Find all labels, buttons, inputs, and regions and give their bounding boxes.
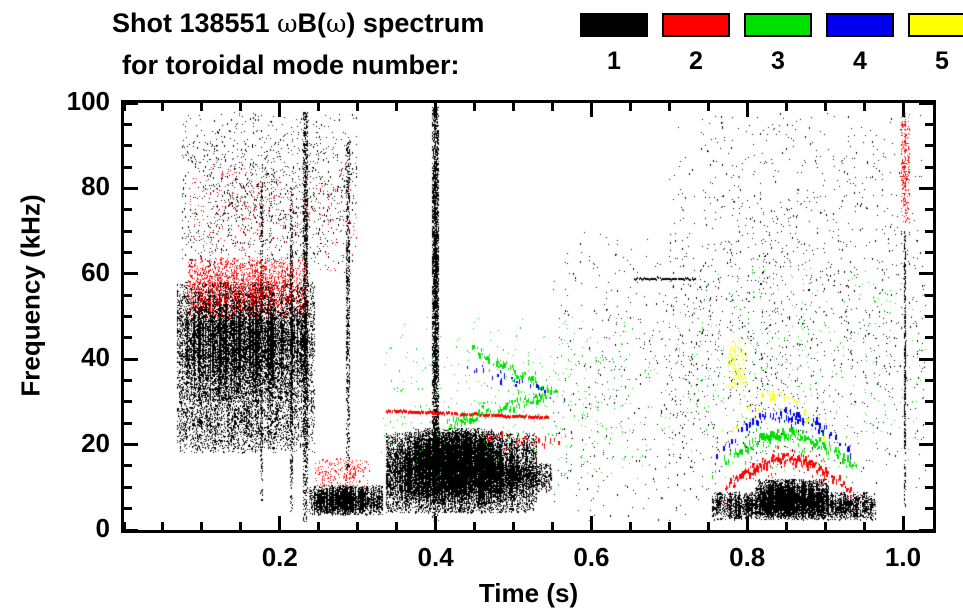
x-axis-title: Time (s) — [121, 578, 936, 609]
title-prefix: Shot 138551 — [112, 8, 277, 38]
x-minor-tick — [395, 522, 398, 530]
y-major-tick — [124, 187, 138, 190]
legend-label-3: 3 — [744, 47, 812, 76]
x-tick-label-0.6: 0.6 — [573, 542, 609, 573]
figure-title-line-1: Shot 138551 ωB(ω) spectrum — [112, 8, 484, 39]
legend-swatch-3 — [744, 13, 812, 37]
x-minor-tick — [239, 522, 242, 530]
spectrogram-figure: Shot 138551 ωB(ω) spectrum for toroidal … — [0, 0, 963, 615]
x-major-tick-top — [902, 103, 905, 117]
x-minor-tick-top — [863, 103, 866, 111]
y-minor-tick-right — [925, 251, 933, 254]
y-minor-tick-right — [925, 336, 933, 339]
y-major-tick — [124, 358, 138, 361]
figure-title-line-2: for toroidal mode number: — [122, 50, 460, 81]
y-minor-tick — [124, 123, 132, 126]
x-minor-tick-top — [785, 103, 788, 111]
y-tick-label-40: 40 — [81, 342, 110, 373]
y-major-tick-right — [919, 529, 933, 532]
y-minor-tick — [124, 144, 132, 147]
y-minor-tick — [124, 379, 132, 382]
y-tick-label-100: 100 — [67, 86, 110, 117]
x-minor-tick — [512, 522, 515, 530]
y-minor-tick-right — [925, 144, 933, 147]
omega-symbol-1: ω — [277, 9, 297, 38]
y-minor-tick-right — [925, 464, 933, 467]
x-major-tick-top — [278, 103, 281, 117]
legend-entry-4: 4 — [826, 13, 896, 89]
x-minor-tick-top — [395, 103, 398, 111]
legend-swatch-2 — [662, 13, 730, 37]
y-minor-tick — [124, 507, 132, 510]
y-major-tick-right — [919, 102, 933, 105]
x-major-tick — [902, 516, 905, 530]
x-minor-tick — [356, 522, 359, 530]
x-minor-tick-top — [123, 103, 126, 111]
title-suffix: ) spectrum — [346, 8, 484, 38]
y-minor-tick — [124, 166, 132, 169]
x-tick-label-1.0: 1.0 — [885, 542, 921, 573]
x-minor-tick-top — [473, 103, 476, 111]
x-minor-tick-top — [668, 103, 671, 111]
y-minor-tick-right — [925, 486, 933, 489]
y-major-tick — [124, 272, 138, 275]
x-minor-tick-top — [161, 103, 164, 111]
x-major-tick-top — [434, 103, 437, 117]
x-minor-tick — [317, 522, 320, 530]
y-major-tick-right — [919, 187, 933, 190]
legend: 12345 — [580, 13, 952, 89]
y-minor-tick-right — [925, 315, 933, 318]
x-minor-tick-top — [512, 103, 515, 111]
y-minor-tick-right — [925, 379, 933, 382]
x-minor-tick-top — [356, 103, 359, 111]
y-minor-tick-right — [925, 422, 933, 425]
x-axis-tick-labels: 0.20.40.60.81.0 — [121, 542, 936, 578]
legend-entry-5: 5 — [908, 13, 963, 89]
x-minor-tick — [473, 522, 476, 530]
x-minor-tick-top — [317, 103, 320, 111]
y-minor-tick — [124, 336, 132, 339]
x-major-tick — [590, 516, 593, 530]
x-tick-label-0.2: 0.2 — [262, 542, 298, 573]
y-axis-title: Frequency (kHz) — [16, 171, 47, 421]
y-minor-tick-right — [925, 166, 933, 169]
y-tick-label-0: 0 — [96, 513, 110, 544]
x-minor-tick — [161, 522, 164, 530]
x-minor-tick — [200, 522, 203, 530]
y-major-tick — [124, 443, 138, 446]
legend-entry-1: 1 — [580, 13, 650, 89]
legend-swatch-4 — [826, 13, 894, 37]
x-minor-tick-top — [551, 103, 554, 111]
plot-frame — [121, 100, 936, 533]
y-minor-tick-right — [925, 123, 933, 126]
y-major-tick-right — [919, 358, 933, 361]
y-minor-tick — [124, 486, 132, 489]
y-minor-tick-right — [925, 230, 933, 233]
x-major-tick — [434, 516, 437, 530]
x-minor-tick — [551, 522, 554, 530]
x-minor-tick-top — [707, 103, 710, 111]
x-tick-label-0.8: 0.8 — [729, 542, 765, 573]
legend-label-2: 2 — [662, 47, 730, 76]
y-minor-tick — [124, 294, 132, 297]
y-tick-label-80: 80 — [81, 171, 110, 202]
y-major-tick — [124, 529, 138, 532]
legend-swatch-1 — [580, 13, 648, 37]
y-minor-tick-right — [925, 208, 933, 211]
y-minor-tick — [124, 400, 132, 403]
x-major-tick-top — [590, 103, 593, 117]
x-minor-tick — [707, 522, 710, 530]
y-minor-tick — [124, 208, 132, 211]
x-minor-tick-top — [239, 103, 242, 111]
y-major-tick — [124, 102, 138, 105]
legend-entry-2: 2 — [662, 13, 732, 89]
spectrogram-plot-area — [124, 103, 933, 530]
x-minor-tick-top — [629, 103, 632, 111]
legend-entry-3: 3 — [744, 13, 814, 89]
x-major-tick — [278, 516, 281, 530]
y-minor-tick — [124, 230, 132, 233]
legend-label-4: 4 — [826, 47, 894, 76]
title-mid: B( — [297, 8, 326, 38]
y-minor-tick — [124, 251, 132, 254]
y-minor-tick — [124, 464, 132, 467]
x-tick-label-0.4: 0.4 — [418, 542, 454, 573]
x-minor-tick — [785, 522, 788, 530]
x-minor-tick — [629, 522, 632, 530]
y-major-tick-right — [919, 443, 933, 446]
x-minor-tick-top — [200, 103, 203, 111]
omega-symbol-2: ω — [326, 9, 346, 38]
x-minor-tick — [123, 522, 126, 530]
x-minor-tick-top — [824, 103, 827, 111]
y-minor-tick-right — [925, 507, 933, 510]
x-major-tick-top — [746, 103, 749, 117]
y-minor-tick-right — [925, 294, 933, 297]
y-tick-label-60: 60 — [81, 257, 110, 288]
x-minor-tick — [824, 522, 827, 530]
legend-label-5: 5 — [908, 47, 963, 76]
x-minor-tick — [668, 522, 671, 530]
y-minor-tick-right — [925, 400, 933, 403]
y-major-tick-right — [919, 272, 933, 275]
x-major-tick — [746, 516, 749, 530]
legend-swatch-5 — [908, 13, 963, 37]
legend-label-1: 1 — [580, 47, 648, 76]
y-minor-tick — [124, 422, 132, 425]
y-minor-tick — [124, 315, 132, 318]
x-minor-tick — [863, 522, 866, 530]
y-tick-label-20: 20 — [81, 428, 110, 459]
